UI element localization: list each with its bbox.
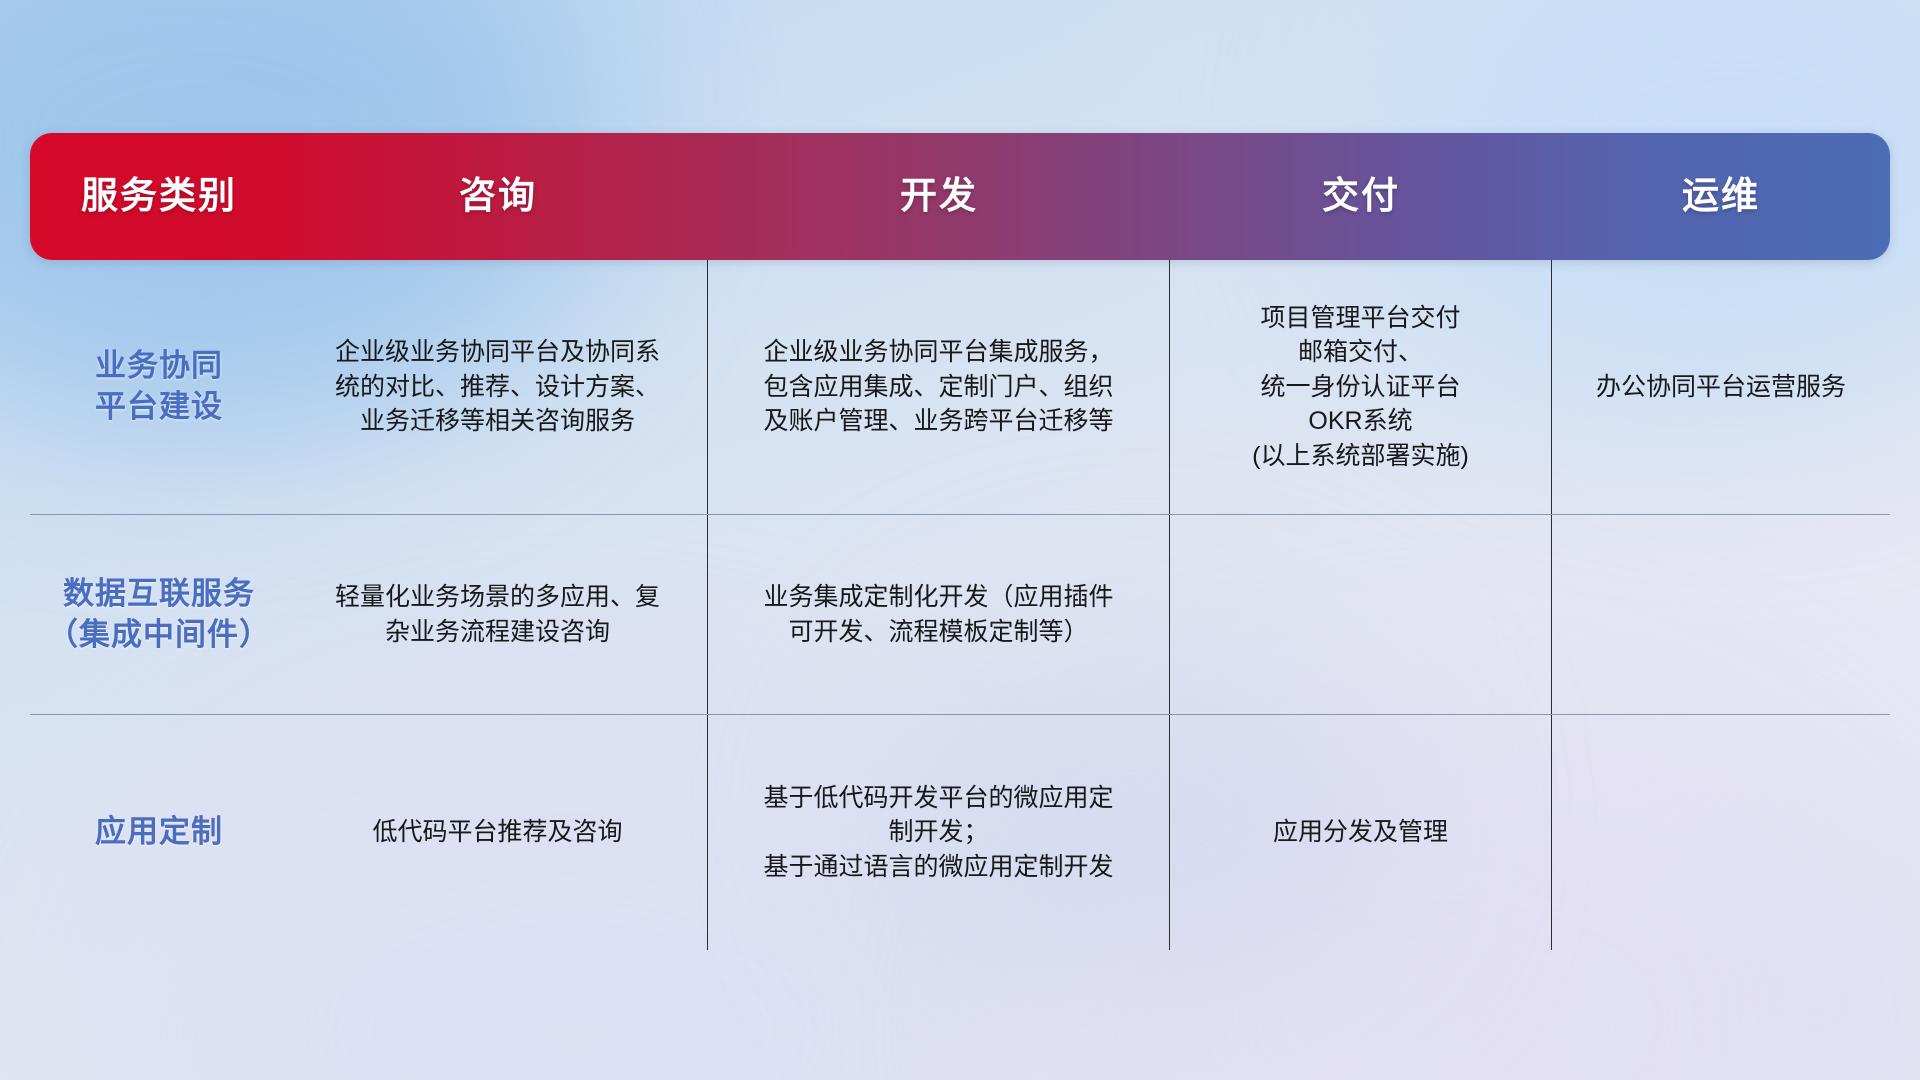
column-header-delivery: 交付 [1170,176,1552,217]
cell-consulting: 企业级业务协同平台及协同系 统的对比、推荐、设计方案、 业务迁移等相关咨询服务 [288,260,708,514]
cell-consulting: 轻量化业务场景的多应用、复 杂业务流程建设咨询 [288,515,708,714]
cell-operations [1552,515,1890,714]
slide-canvas: 服务类别 咨询 开发 交付 运维 业务协同 平台建设 企业级业务协同平台及协同系… [0,0,1920,1080]
table-row: 业务协同 平台建设 企业级业务协同平台及协同系 统的对比、推荐、设计方案、 业务… [30,260,1890,515]
cell-delivery: 项目管理平台交付 邮箱交付、 统一身份认证平台 OKR系统 (以上系统部署实施) [1170,260,1552,514]
column-header-development: 开发 [708,176,1170,217]
cell-operations: 办公协同平台运营服务 [1552,260,1890,514]
cell-delivery: 应用分发及管理 [1170,715,1552,950]
column-header-operations: 运维 [1552,176,1890,217]
cell-consulting: 低代码平台推荐及咨询 [288,715,708,950]
row-category-label: 应用定制 [30,715,288,950]
cell-delivery [1170,515,1552,714]
column-header-service-category: 服务类别 [30,176,288,217]
table-row: 数据互联服务 （集成中间件） 轻量化业务场景的多应用、复 杂业务流程建设咨询 业… [30,515,1890,715]
cell-development: 基于低代码开发平台的微应用定 制开发； 基于通过语言的微应用定制开发 [708,715,1170,950]
table-body: 业务协同 平台建设 企业级业务协同平台及协同系 统的对比、推荐、设计方案、 业务… [30,260,1890,950]
cell-development: 业务集成定制化开发（应用插件 可开发、流程模板定制等） [708,515,1170,714]
table-row: 应用定制 低代码平台推荐及咨询 基于低代码开发平台的微应用定 制开发； 基于通过… [30,715,1890,950]
row-category-label: 数据互联服务 （集成中间件） [30,515,288,714]
column-header-consulting: 咨询 [288,176,708,217]
cell-development: 企业级业务协同平台集成服务， 包含应用集成、定制门户、组织 及账户管理、业务跨平… [708,260,1170,514]
table-header-row: 服务类别 咨询 开发 交付 运维 [30,133,1890,260]
cell-operations [1552,715,1890,950]
row-category-label: 业务协同 平台建设 [30,260,288,514]
service-matrix-table: 服务类别 咨询 开发 交付 运维 业务协同 平台建设 企业级业务协同平台及协同系… [30,133,1890,950]
